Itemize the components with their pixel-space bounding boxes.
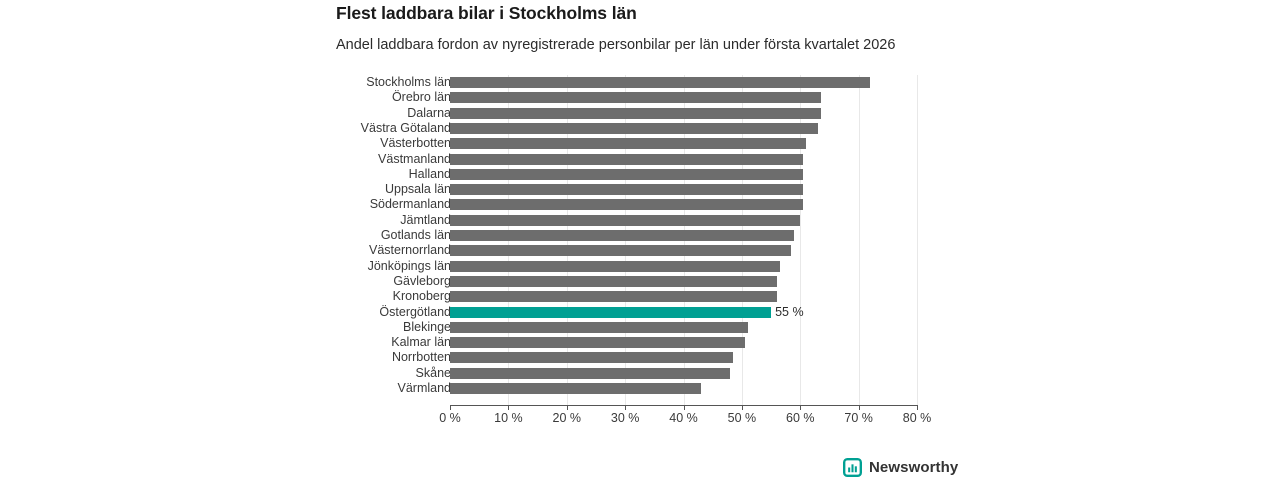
x-tick-label-80: 80 % bbox=[903, 411, 932, 425]
bar bbox=[450, 169, 803, 180]
bar-row: Södermanland bbox=[0, 197, 1280, 212]
bar-row: Gotlands län bbox=[0, 228, 1280, 243]
bar bbox=[450, 261, 780, 272]
category-label: Värmland bbox=[211, 381, 451, 396]
bar-row: Västra Götaland bbox=[0, 121, 1280, 136]
bar bbox=[450, 383, 701, 394]
category-label: Gotlands län bbox=[211, 228, 451, 243]
x-tick-label-20: 20 % bbox=[553, 411, 582, 425]
x-tick-30 bbox=[625, 405, 626, 410]
bar-row: Norrbotten bbox=[0, 350, 1280, 365]
bar-row: Halland bbox=[0, 167, 1280, 182]
bar bbox=[450, 245, 791, 256]
bar bbox=[450, 184, 803, 195]
x-tick-label-40: 40 % bbox=[669, 411, 698, 425]
bar bbox=[450, 154, 803, 165]
category-label: Västmanland bbox=[211, 152, 451, 167]
x-tick-60 bbox=[800, 405, 801, 410]
x-tick-10 bbox=[508, 405, 509, 410]
bar-row: Örebro län bbox=[0, 90, 1280, 105]
bar-row: Dalarna bbox=[0, 106, 1280, 121]
brand-name: Newsworthy bbox=[869, 459, 958, 476]
bar bbox=[450, 230, 794, 241]
bar bbox=[450, 368, 730, 379]
bar-row: Kronoberg bbox=[0, 289, 1280, 304]
bar-row: Uppsala län bbox=[0, 182, 1280, 197]
bar bbox=[450, 108, 821, 119]
bar bbox=[450, 123, 818, 134]
category-label: Skåne bbox=[211, 366, 451, 381]
category-label: Gävleborg bbox=[211, 274, 451, 289]
bar bbox=[450, 322, 748, 333]
x-tick-label-10: 10 % bbox=[494, 411, 523, 425]
bar-row: Jönköpings län bbox=[0, 259, 1280, 274]
x-tick-80 bbox=[917, 405, 918, 410]
chart-container: Flest laddbara bilar i Stockholms län An… bbox=[0, 0, 1280, 480]
bar bbox=[450, 215, 800, 226]
chart-bars: Stockholms länÖrebro länDalarnaVästra Gö… bbox=[0, 75, 1280, 405]
bar-row: Gävleborg bbox=[0, 274, 1280, 289]
bar-row: Blekinge bbox=[0, 320, 1280, 335]
bar-row: Östergötland55 % bbox=[0, 305, 1280, 320]
x-tick-label-60: 60 % bbox=[786, 411, 815, 425]
bar bbox=[450, 276, 777, 287]
x-tick-70 bbox=[859, 405, 860, 410]
category-label: Halland bbox=[211, 167, 451, 182]
x-tick-40 bbox=[684, 405, 685, 410]
category-label: Jönköpings län bbox=[211, 259, 451, 274]
category-label: Norrbotten bbox=[211, 350, 451, 365]
bar-highlighted bbox=[450, 307, 771, 318]
bar-row: Kalmar län bbox=[0, 335, 1280, 350]
bar bbox=[450, 352, 733, 363]
chart-subtitle: Andel laddbara fordon av nyregistrerade … bbox=[336, 37, 895, 53]
category-label: Västerbotten bbox=[211, 136, 451, 151]
bar-row: Skåne bbox=[0, 366, 1280, 381]
bar bbox=[450, 291, 777, 302]
bar-row: Västernorrland bbox=[0, 243, 1280, 258]
x-tick-label-50: 50 % bbox=[728, 411, 757, 425]
category-label: Västernorrland bbox=[211, 243, 451, 258]
category-label: Uppsala län bbox=[211, 182, 451, 197]
category-label: Östergötland bbox=[211, 305, 451, 320]
x-tick-label-30: 30 % bbox=[611, 411, 640, 425]
bar-row: Västerbotten bbox=[0, 136, 1280, 151]
category-label: Stockholms län bbox=[211, 75, 451, 90]
bar bbox=[450, 138, 806, 149]
bar bbox=[450, 199, 803, 210]
bar-row: Jämtland bbox=[0, 213, 1280, 228]
bar-value-label: 55 % bbox=[775, 305, 804, 320]
bar-row: Västmanland bbox=[0, 152, 1280, 167]
category-label: Dalarna bbox=[211, 106, 451, 121]
category-label: Kalmar län bbox=[211, 335, 451, 350]
category-label: Örebro län bbox=[211, 90, 451, 105]
category-label: Blekinge bbox=[211, 320, 451, 335]
bar bbox=[450, 77, 870, 88]
category-label: Västra Götaland bbox=[211, 121, 451, 136]
bar-row: Värmland bbox=[0, 381, 1280, 396]
x-tick-0 bbox=[450, 405, 451, 410]
x-tick-50 bbox=[742, 405, 743, 410]
x-tick-20 bbox=[567, 405, 568, 410]
bar bbox=[450, 92, 821, 103]
chart-title: Flest laddbara bilar i Stockholms län bbox=[336, 3, 637, 24]
category-label: Kronoberg bbox=[211, 289, 451, 304]
x-tick-label-0: 0 % bbox=[439, 411, 461, 425]
bar bbox=[450, 337, 745, 348]
bar-chart-logo-icon bbox=[843, 458, 862, 477]
x-tick-label-70: 70 % bbox=[844, 411, 873, 425]
newsworthy-logo: Newsworthy bbox=[843, 458, 958, 477]
category-label: Jämtland bbox=[211, 213, 451, 228]
category-label: Södermanland bbox=[211, 197, 451, 212]
bar-row: Stockholms län bbox=[0, 75, 1280, 90]
